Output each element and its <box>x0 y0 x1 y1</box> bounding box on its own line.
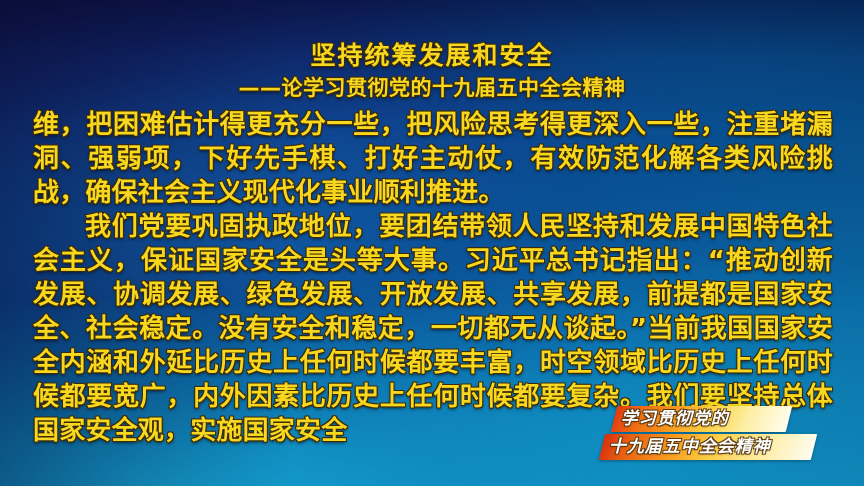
badge-label-line-2: 十九届五中全会精神 <box>607 434 775 460</box>
broadcast-caption-screen: 坚持统筹发展和安全 ——论学习贯彻党的十九届五中全会精神 维，把困难估计得更充分… <box>0 0 864 486</box>
page-subtitle: ——论学习贯彻党的十九届五中全会精神 <box>0 74 864 103</box>
program-badge: 学习贯彻党的 十九届五中全会精神 <box>598 404 838 474</box>
article-paragraph: 维，把困难估计得更充分一些，把风险思考得更深入一些，注重堵漏洞、强弱项，下好先手… <box>33 108 833 210</box>
title-block: 坚持统筹发展和安全 ——论学习贯彻党的十九届五中全会精神 <box>0 40 864 103</box>
article-body: 维，把困难估计得更充分一些，把风险思考得更深入一些，注重堵漏洞、强弱项，下好先手… <box>33 108 833 448</box>
page-title: 坚持统筹发展和安全 <box>0 40 864 72</box>
badge-label-line-1: 学习贯彻党的 <box>619 406 733 432</box>
